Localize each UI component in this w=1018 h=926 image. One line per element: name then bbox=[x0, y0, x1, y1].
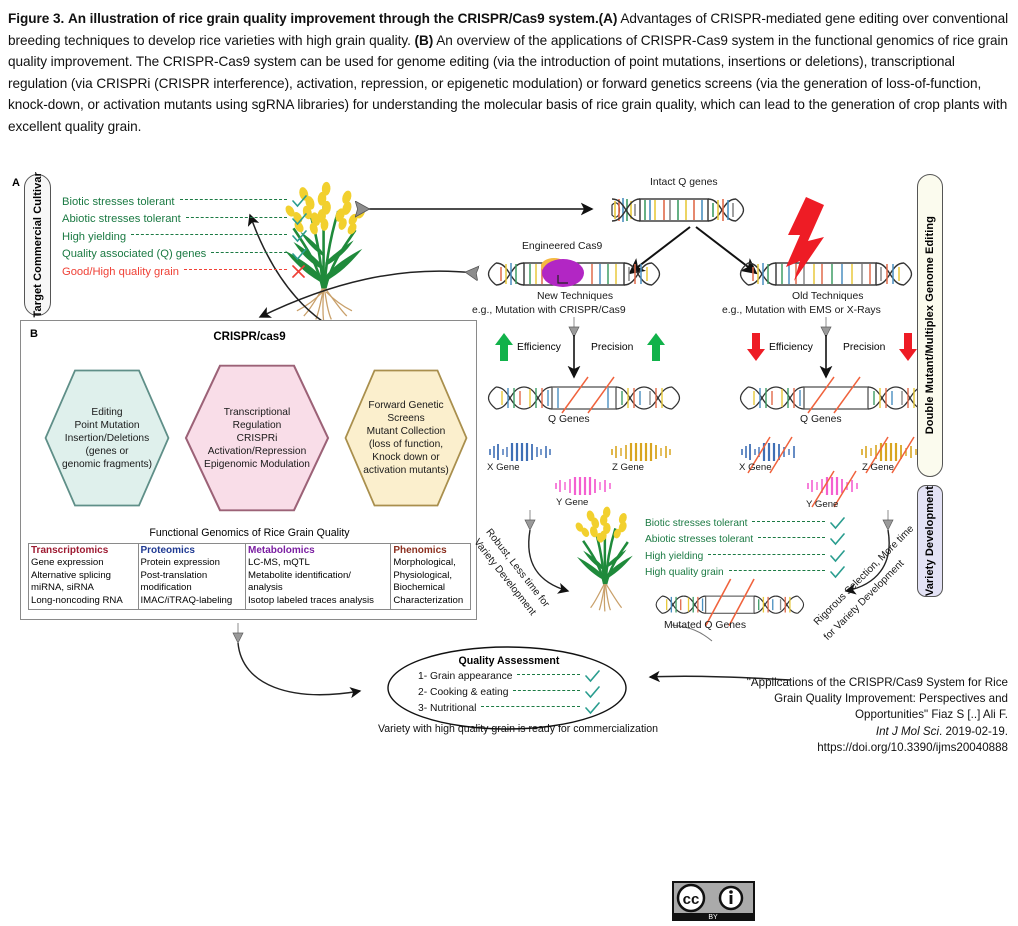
citation-doi[interactable]: https://doi.org/10.3390/ijms20040888 bbox=[678, 740, 1008, 756]
quality-item: 2- Cooking & eating bbox=[418, 684, 600, 700]
dna-intact-q-genes bbox=[612, 198, 744, 222]
check-icon bbox=[830, 517, 845, 530]
hexagon-editing-text: EditingPoint MutationInsertion/Deletions… bbox=[62, 406, 152, 471]
citation-journal-line: Int J Mol Sci. 2019-02-19. bbox=[678, 724, 1008, 740]
pill-variety-label: Variety Development bbox=[924, 486, 936, 596]
panel-b-box: CRISPR/cas9 EditingPoint MutationInserti… bbox=[20, 320, 477, 620]
citation-line-2: Grain Quality Improvement: Perspectives … bbox=[678, 691, 1008, 707]
trait-mark bbox=[292, 230, 307, 243]
label-q-genes-right: Q Genes bbox=[800, 414, 842, 425]
caption-part-b-tag: (B) bbox=[415, 33, 434, 48]
trait-dash bbox=[180, 199, 287, 200]
trait-row: Good/High quality grain bbox=[62, 263, 307, 281]
trait-mark bbox=[830, 517, 845, 530]
label-engineered-cas9: Engineered Cas9 bbox=[522, 241, 602, 252]
rice-plant-mutated bbox=[574, 506, 633, 611]
quality-item-label: 2- Cooking & eating bbox=[418, 687, 508, 698]
citation-line-1: "Applications of the CRISPR/Cas9 System … bbox=[678, 675, 1008, 691]
omics-cell: modification bbox=[141, 582, 244, 594]
label-new-efficiency: Efficiency bbox=[517, 342, 561, 353]
svg-text:BY: BY bbox=[708, 914, 718, 921]
trait-mark bbox=[292, 248, 307, 261]
label-new-precision: Precision bbox=[591, 342, 633, 353]
label-mutated-q-genes: Mutated Q Genes bbox=[664, 620, 746, 631]
trait-dash bbox=[752, 521, 825, 522]
svg-text:cc: cc bbox=[683, 891, 700, 908]
label-old-precision: Precision bbox=[843, 342, 885, 353]
omics-cell: Long-noncoding RNA bbox=[31, 595, 136, 607]
trait-mark bbox=[830, 566, 845, 579]
trait-row: High quality grain bbox=[645, 565, 845, 582]
omics-cell: miRNA, siRNA bbox=[31, 582, 136, 594]
panel-a-letter: A bbox=[12, 177, 20, 189]
cas9-blob bbox=[542, 259, 584, 287]
trait-row: Abiotic stresses tolerant bbox=[645, 532, 845, 549]
hexagon-line: (loss of function, bbox=[363, 438, 449, 451]
quality-item-dash bbox=[513, 690, 580, 691]
pill-cultivar-label: Target Commercial Cultivar bbox=[32, 172, 44, 317]
dna-mutated-q-genes bbox=[656, 579, 803, 626]
label-old-techniques-title: Old Techniques bbox=[792, 291, 863, 302]
pill-variety-development: Variety Development bbox=[917, 485, 943, 597]
check-icon bbox=[292, 230, 307, 243]
label-z-gene-right: Z Gene bbox=[862, 462, 894, 473]
mutant-trait-list: Biotic stresses tolerantAbiotic stresses… bbox=[645, 515, 845, 581]
trait-label: Biotic stresses tolerant bbox=[645, 518, 747, 529]
trait-label: Quality associated (Q) genes bbox=[62, 248, 206, 260]
hexagon-line: genomic fragments) bbox=[62, 458, 152, 471]
quality-item-dash bbox=[481, 706, 580, 707]
trait-label: High yielding bbox=[645, 551, 703, 562]
caption-part-a-tag: (A) bbox=[599, 11, 618, 26]
omics-column-proteomics: ProteomicsProtein expressionPost-transla… bbox=[139, 544, 247, 609]
trait-dash bbox=[758, 537, 825, 538]
quality-assessment-title: Quality Assessment bbox=[418, 655, 600, 667]
label-new-techniques-sub: e.g., Mutation with CRISPR/Cas9 bbox=[472, 305, 626, 316]
sgrna-blob bbox=[541, 258, 567, 274]
lightning-bolt-icon bbox=[786, 197, 824, 281]
pill-double-mutant-multiplex: Double Mutant/Multiplex Genome Editing bbox=[917, 174, 943, 477]
check-icon bbox=[292, 248, 307, 261]
dna-q-genes-left bbox=[489, 377, 680, 413]
figure-label: Figure 3. bbox=[8, 11, 64, 26]
omics-cell: analysis bbox=[248, 582, 388, 594]
trait-row: Abiotic stresses tolerant bbox=[62, 211, 307, 229]
omics-cell: Gene expression bbox=[31, 557, 136, 569]
check-icon bbox=[830, 533, 845, 546]
trait-label: Abiotic stresses tolerant bbox=[62, 213, 181, 225]
omics-header: Metabolomics bbox=[248, 545, 388, 557]
omics-header: Phenomics bbox=[393, 545, 468, 557]
hexagon-forward-genetic-text: Forward GeneticScreensMutant Collection(… bbox=[363, 399, 449, 477]
panel-b-heading: CRISPR/cas9 bbox=[21, 331, 478, 343]
omics-table: TranscriptomicsGene expressionAlternativ… bbox=[28, 543, 471, 610]
label-x-gene-right: X Gene bbox=[739, 462, 772, 473]
quality-item-mark bbox=[585, 670, 600, 683]
trait-row: Quality associated (Q) genes bbox=[62, 246, 307, 264]
quality-item: 1- Grain appearance bbox=[418, 668, 600, 684]
trait-row: High yielding bbox=[645, 548, 845, 565]
hexagon-line: Insertion/Deletions bbox=[62, 432, 152, 445]
omics-cell: Protein expression bbox=[141, 557, 244, 569]
omics-header: Proteomics bbox=[141, 545, 244, 557]
quality-item: 3- Nutritional bbox=[418, 700, 600, 716]
check-icon bbox=[292, 213, 307, 226]
quality-assessment-list: 1- Grain appearance2- Cooking & eating3-… bbox=[418, 668, 600, 716]
hexagon-line: Point Mutation bbox=[62, 419, 152, 432]
quality-item-label: 3- Nutritional bbox=[418, 703, 476, 714]
hexagon-line: Knock down or bbox=[363, 451, 449, 464]
check-icon bbox=[830, 550, 845, 563]
trait-label: High quality grain bbox=[645, 567, 724, 578]
omics-cell: Morphological, bbox=[393, 557, 468, 569]
label-intact-q-genes: Intact Q genes bbox=[650, 177, 718, 188]
trait-mark bbox=[830, 533, 845, 546]
hexagon-forward-genetic: Forward GeneticScreensMutant Collection(… bbox=[343, 368, 469, 508]
hexagon-line: activation mutants) bbox=[363, 464, 449, 477]
label-x-gene-left: X Gene bbox=[487, 462, 520, 473]
hexagon-line: Regulation bbox=[204, 419, 310, 432]
trait-dash bbox=[708, 554, 825, 555]
pill-target-commercial-cultivar: Target Commercial Cultivar bbox=[24, 174, 51, 316]
trait-label: Abiotic stresses tolerant bbox=[645, 534, 753, 545]
check-icon bbox=[585, 702, 600, 715]
figure-title: An illustration of rice grain quality im… bbox=[68, 11, 599, 26]
cross-icon bbox=[292, 265, 305, 278]
trait-mark bbox=[292, 213, 307, 226]
label-new-techniques-title: New Techniques bbox=[537, 291, 613, 302]
figure-caption: Figure 3. An illustration of rice grain … bbox=[8, 8, 1010, 137]
hexagon-line: Screens bbox=[363, 412, 449, 425]
hexagon-line: (genes or bbox=[62, 445, 152, 458]
citation-journal: Int J Mol Sci bbox=[876, 725, 939, 738]
check-icon bbox=[585, 686, 600, 699]
omics-cell: Alternative splicing bbox=[31, 570, 136, 582]
trait-dash bbox=[211, 252, 287, 253]
pill-double-label: Double Mutant/Multiplex Genome Editing bbox=[924, 216, 936, 434]
hexagon-line: Activation/Repression bbox=[204, 445, 310, 458]
trend-arrow-new-efficiency bbox=[495, 333, 513, 361]
hexagon-transcriptional-text: TranscriptionalRegulationCRISPRiActivati… bbox=[204, 406, 310, 471]
gene-barcode-x-left bbox=[490, 443, 550, 461]
label-old-techniques-sub: e.g., Mutation with EMS or X-Rays bbox=[722, 305, 881, 316]
trait-mark bbox=[292, 195, 307, 208]
trend-arrow-old-efficiency bbox=[747, 333, 765, 361]
trait-label: Good/High quality grain bbox=[62, 266, 179, 278]
trait-label: High yielding bbox=[62, 231, 126, 243]
hexagon-editing: EditingPoint MutationInsertion/Deletions… bbox=[43, 368, 171, 508]
trait-mark bbox=[830, 550, 845, 563]
omics-cell: Isotop labeled traces analysis bbox=[248, 595, 388, 607]
hexagon-line: Mutant Collection bbox=[363, 425, 449, 438]
omics-cell: Post-translation bbox=[141, 570, 244, 582]
trait-dash bbox=[186, 217, 287, 218]
omics-column-phenomics: PhenomicsMorphological,Physiological,Bio… bbox=[391, 544, 470, 609]
hexagon-line: CRISPRi bbox=[204, 432, 310, 445]
hexagon-transcriptional: TranscriptionalRegulationCRISPRiActivati… bbox=[183, 363, 331, 513]
label-y-gene-right: Y Gene bbox=[806, 499, 838, 510]
citation-line-3: Opportunities" Fiaz S [..] Ali F. bbox=[678, 707, 1008, 723]
label-z-gene-left: Z Gene bbox=[612, 462, 644, 473]
trait-dash bbox=[131, 234, 287, 235]
cultivar-trait-list: Biotic stresses tolerantAbiotic stresses… bbox=[62, 193, 307, 281]
functional-genomics-label: Functional Genomics of Rice Grain Qualit… bbox=[21, 527, 478, 539]
cc-by-icon[interactable]: cc BY bbox=[672, 881, 755, 921]
omics-cell: IMAC/iTRAQ-labeling bbox=[141, 595, 244, 607]
citation-block: "Applications of the CRISPR/Cas9 System … bbox=[678, 675, 1008, 756]
trait-label: Biotic stresses tolerant bbox=[62, 196, 175, 208]
quality-assessment-group: Quality Assessment 1- Grain appearance2-… bbox=[388, 647, 626, 729]
omics-column-transcriptomics: TranscriptomicsGene expressionAlternativ… bbox=[29, 544, 139, 609]
hexagon-line: Editing bbox=[62, 406, 152, 419]
trait-row: High yielding bbox=[62, 228, 307, 246]
hexagon-line: Epigenomic Modulation bbox=[204, 458, 310, 471]
trend-arrow-new-precision bbox=[647, 333, 665, 361]
quality-item-mark bbox=[585, 686, 600, 699]
dna-q-genes-right bbox=[741, 377, 932, 413]
hexagon-line: Transcriptional bbox=[204, 406, 310, 419]
label-y-gene-left: Y Gene bbox=[556, 497, 588, 508]
label-q-genes-left: Q Genes bbox=[548, 414, 590, 425]
trait-row: Biotic stresses tolerant bbox=[62, 193, 307, 211]
gene-barcode-z-left bbox=[612, 443, 670, 461]
panel-b-letter: B bbox=[30, 328, 38, 340]
trait-row: Biotic stresses tolerant bbox=[645, 515, 845, 532]
dna-engineered-cas9 bbox=[489, 258, 660, 287]
dna-old-techniques bbox=[741, 197, 912, 285]
omics-column-metabolomics: MetabolomicsLC-MS, mQTLMetabolite identi… bbox=[246, 544, 391, 609]
trait-dash bbox=[184, 269, 287, 270]
trait-dash bbox=[729, 570, 825, 571]
omics-header: Transcriptomics bbox=[31, 545, 136, 557]
omics-cell: Physiological, bbox=[393, 570, 468, 582]
quality-item-mark bbox=[585, 702, 600, 715]
omics-cell: Metabolite identification/ bbox=[248, 570, 388, 582]
figure-canvas: A B Target Commercial Cultivar Double Mu… bbox=[0, 165, 1018, 764]
gene-barcode-y-left bbox=[556, 477, 610, 495]
check-icon bbox=[585, 670, 600, 683]
trait-mark bbox=[292, 265, 307, 278]
check-icon bbox=[830, 566, 845, 579]
hexagon-line: Forward Genetic bbox=[363, 399, 449, 412]
trend-arrow-old-precision bbox=[899, 333, 917, 361]
quality-item-dash bbox=[517, 674, 580, 675]
check-icon bbox=[292, 195, 307, 208]
citation-date: . 2019-02-19. bbox=[939, 725, 1008, 738]
quality-item-label: 1- Grain appearance bbox=[418, 671, 512, 682]
label-old-efficiency: Efficiency bbox=[769, 342, 813, 353]
omics-cell: Biochemical bbox=[393, 582, 468, 594]
omics-cell: LC-MS, mQTL bbox=[248, 557, 388, 569]
omics-cell: Characterization bbox=[393, 595, 468, 607]
